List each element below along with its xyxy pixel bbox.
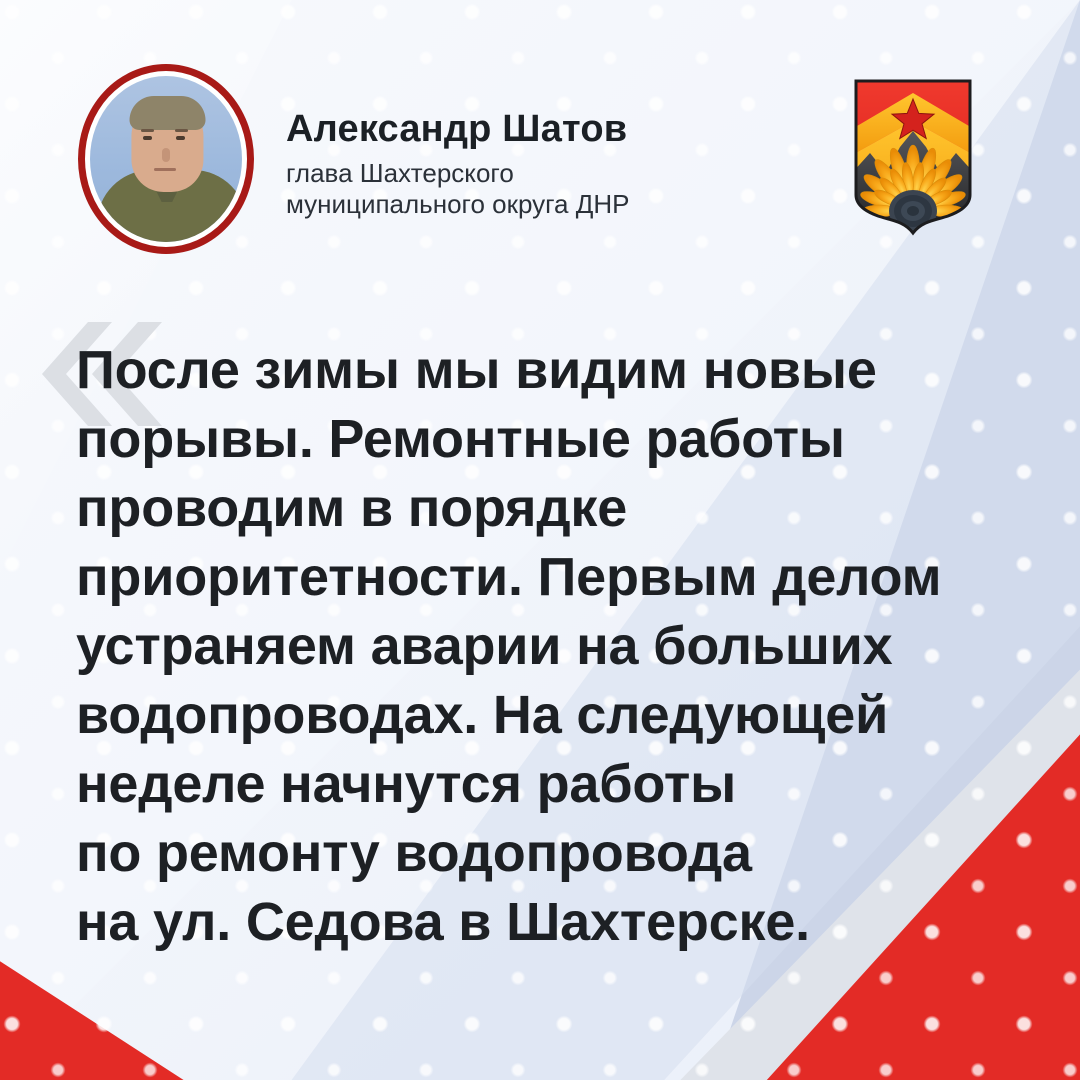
portrait-mouth <box>154 168 176 171</box>
speaker-role: глава Шахтерского муниципального округа … <box>286 158 629 221</box>
portrait-nose <box>162 148 170 162</box>
portrait-eye-right <box>176 136 185 140</box>
quote-card: Александр Шатов глава Шахтерского муници… <box>0 0 1080 1080</box>
quote-text: После зимы мы видим новые порывы. Ремонт… <box>76 336 996 957</box>
speaker-name: Александр Шатов <box>286 110 629 150</box>
speaker-identity: Александр Шатов глава Шахтерского муници… <box>286 110 629 221</box>
portrait-brow-left <box>141 129 154 132</box>
portrait-hair <box>130 96 206 130</box>
portrait-eye-left <box>143 136 152 140</box>
coat-of-arms-icon <box>852 77 974 237</box>
avatar-photo <box>90 76 242 242</box>
portrait-brow-right <box>175 129 188 132</box>
avatar <box>78 64 254 254</box>
